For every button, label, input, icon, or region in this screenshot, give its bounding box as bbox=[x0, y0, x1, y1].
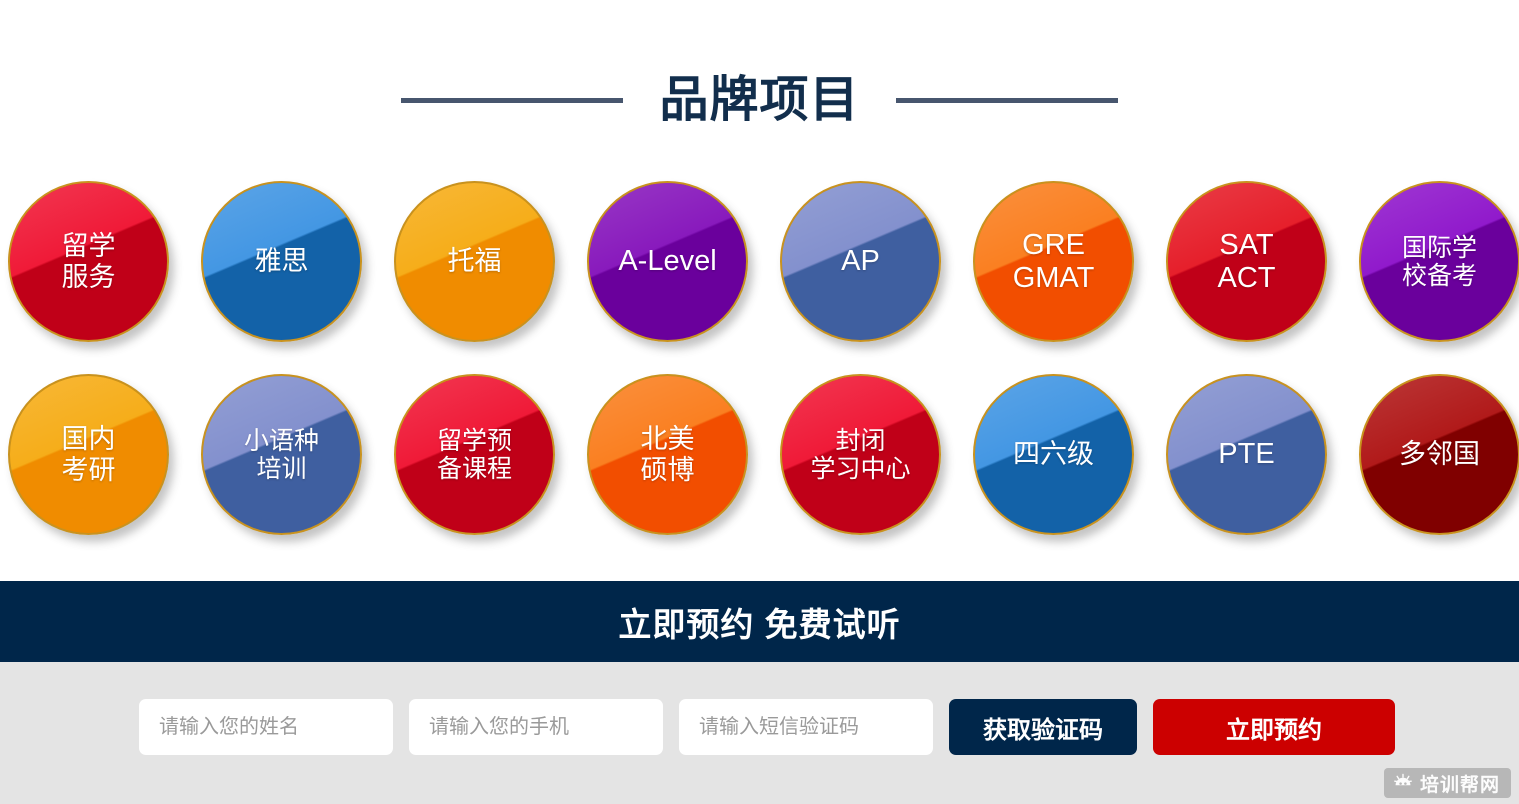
program-label: 封闭学习中心 bbox=[804, 427, 916, 483]
program-bubble-north-america-grad[interactable]: 北美硕博 bbox=[587, 374, 748, 535]
program-row: 留学服务雅思托福A-LevelAPGREGMATSATACT国际学校备考 bbox=[0, 181, 1519, 374]
program-label: 国际学校备考 bbox=[1396, 234, 1483, 290]
program-label: 多邻国 bbox=[1393, 439, 1486, 469]
program-label: 托福 bbox=[442, 246, 508, 276]
program-bubble-closed-study-center[interactable]: 封闭学习中心 bbox=[780, 374, 941, 535]
program-bubble-ap[interactable]: AP bbox=[780, 181, 941, 342]
program-bubble-minor-language[interactable]: 小语种培训 bbox=[201, 374, 362, 535]
name-input[interactable] bbox=[139, 699, 393, 755]
title-rule-right bbox=[896, 98, 1118, 103]
eye-sun-icon bbox=[1393, 773, 1413, 793]
program-bubble-a-level[interactable]: A-Level bbox=[587, 181, 748, 342]
program-label: 国内考研 bbox=[56, 424, 122, 484]
program-bubble-duolingo[interactable]: 多邻国 bbox=[1359, 374, 1519, 535]
program-label: 四六级 bbox=[1007, 439, 1100, 469]
program-label: 小语种培训 bbox=[238, 427, 325, 483]
program-label: AP bbox=[835, 245, 886, 277]
program-label: 雅思 bbox=[249, 246, 315, 276]
booking-form-strip: 获取验证码 立即预约 bbox=[0, 662, 1519, 804]
program-label: 留学预备课程 bbox=[431, 427, 518, 483]
submit-booking-button[interactable]: 立即预约 bbox=[1153, 699, 1395, 755]
program-label: 留学服务 bbox=[56, 231, 122, 291]
booking-banner: 立即预约 免费试听 bbox=[0, 581, 1519, 662]
program-bubble-study-abroad-service[interactable]: 留学服务 bbox=[8, 181, 169, 342]
program-bubble-study-abroad-prep[interactable]: 留学预备课程 bbox=[394, 374, 555, 535]
site-watermark: 培训帮网 bbox=[1384, 768, 1511, 798]
booking-form: 获取验证码 立即预约 bbox=[139, 699, 1395, 755]
program-label: GREGMAT bbox=[1007, 229, 1101, 294]
program-bubble-sat-act[interactable]: SATACT bbox=[1166, 181, 1327, 342]
program-grid: 留学服务雅思托福A-LevelAPGREGMATSATACT国际学校备考国内考研… bbox=[0, 181, 1519, 567]
sms-code-input[interactable] bbox=[679, 699, 933, 755]
program-label: 北美硕博 bbox=[635, 424, 701, 484]
program-row: 国内考研小语种培训留学预备课程北美硕博封闭学习中心四六级PTE多邻国 bbox=[0, 374, 1519, 567]
program-label: SATACT bbox=[1212, 229, 1282, 294]
section-title-row: 品牌项目 bbox=[0, 62, 1519, 138]
program-bubble-cet-4-6[interactable]: 四六级 bbox=[973, 374, 1134, 535]
get-sms-code-button[interactable]: 获取验证码 bbox=[949, 699, 1137, 755]
program-label: PTE bbox=[1212, 438, 1280, 470]
watermark-label: 培训帮网 bbox=[1420, 770, 1500, 797]
phone-input[interactable] bbox=[409, 699, 663, 755]
title-rule-left bbox=[401, 98, 623, 103]
page-title: 品牌项目 bbox=[659, 76, 859, 125]
program-bubble-pte[interactable]: PTE bbox=[1166, 374, 1327, 535]
program-label: A-Level bbox=[612, 245, 722, 277]
program-bubble-toefl[interactable]: 托福 bbox=[394, 181, 555, 342]
program-bubble-intl-school-prep[interactable]: 国际学校备考 bbox=[1359, 181, 1519, 342]
program-bubble-domestic-postgrad[interactable]: 国内考研 bbox=[8, 374, 169, 535]
program-bubble-ielts[interactable]: 雅思 bbox=[201, 181, 362, 342]
program-bubble-gre-gmat[interactable]: GREGMAT bbox=[973, 181, 1134, 342]
banner-title: 立即预约 免费试听 bbox=[618, 598, 900, 646]
